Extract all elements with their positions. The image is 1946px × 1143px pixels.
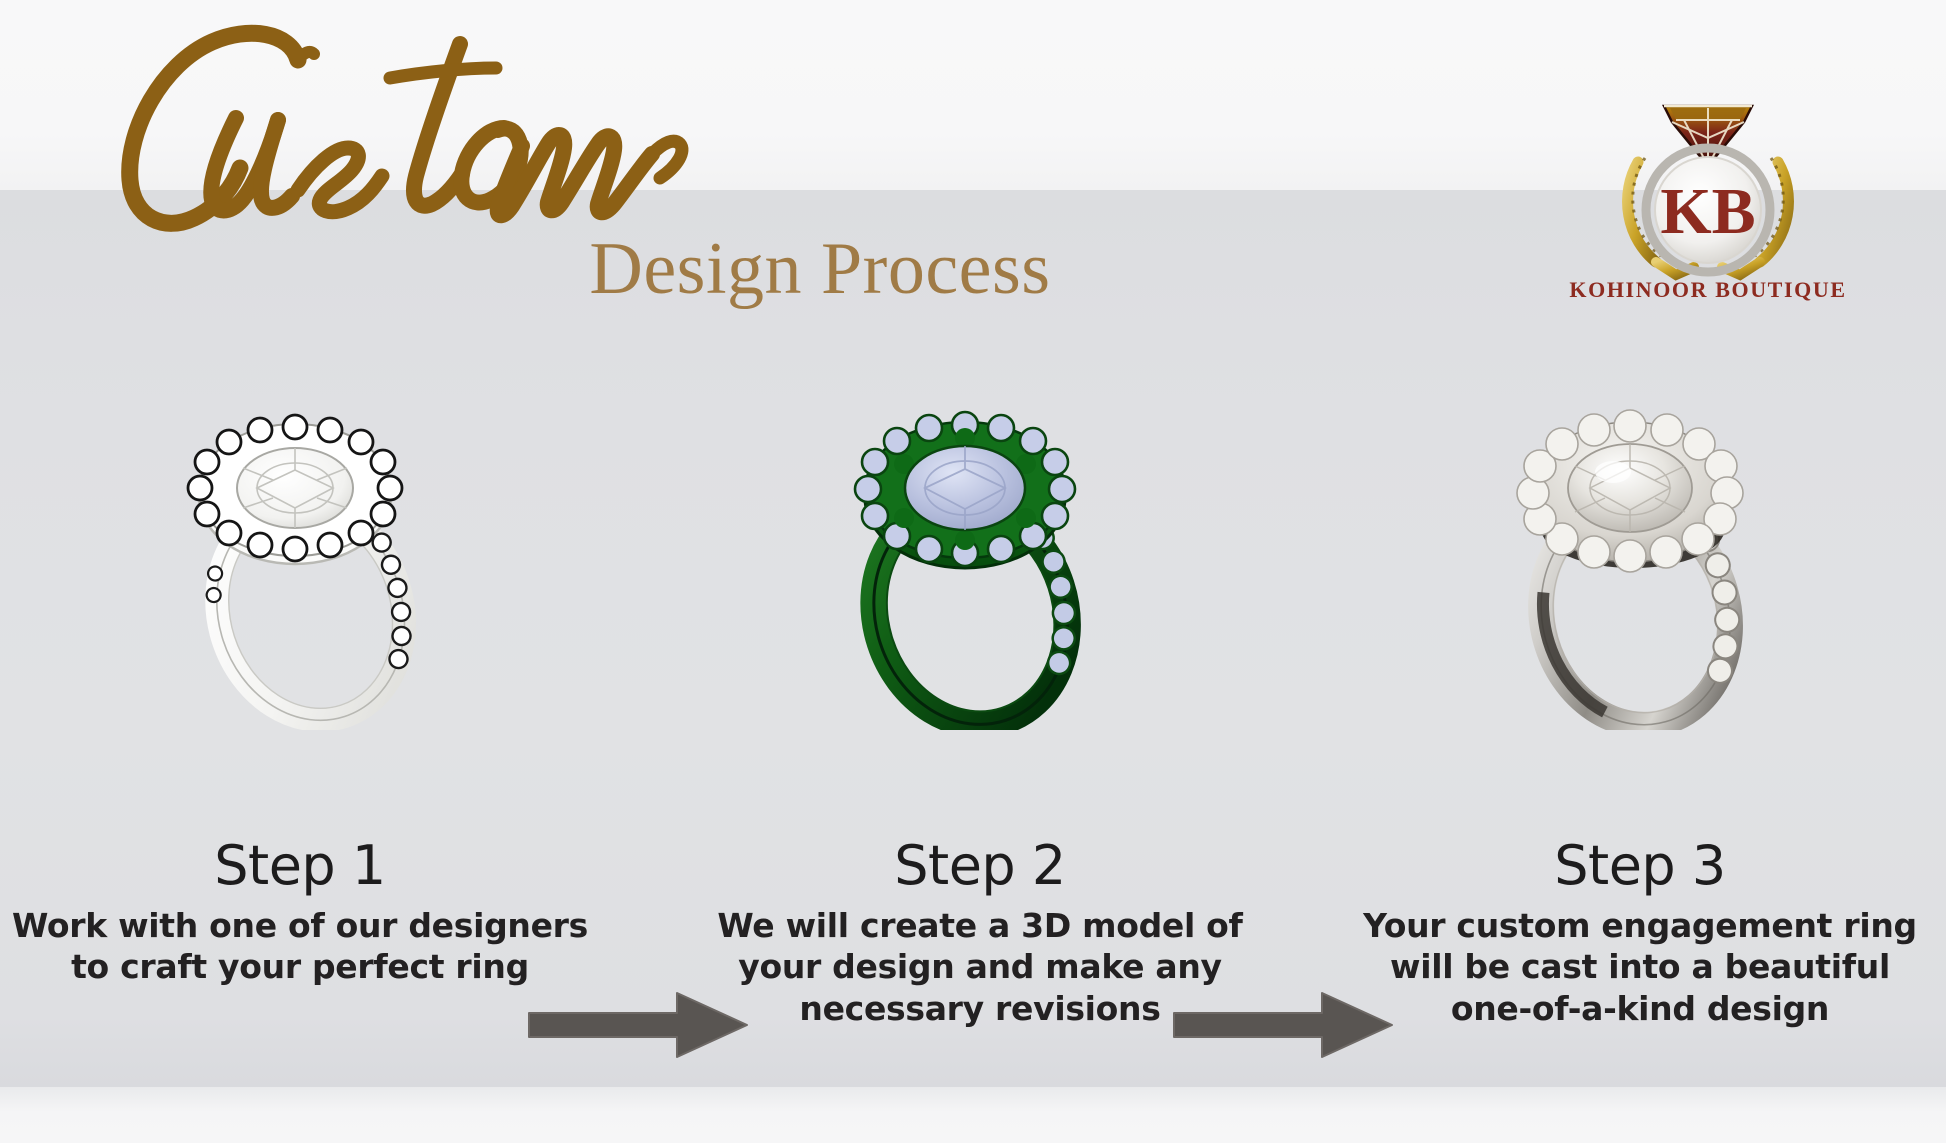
logo-monogram-text: KB [1660, 175, 1755, 248]
ring-illustration-step3-finished-ring [1475, 400, 1805, 730]
step-caption-3: Step 3 Your custom engagement ring will … [1320, 838, 1946, 1029]
background-band-bottom [0, 1087, 1946, 1143]
step-caption-2: Step 2 We will create a 3D model of your… [660, 838, 1300, 1029]
step-2-description: We will create a 3D model of your design… [660, 905, 1300, 1030]
step-1-description: Work with one of our designers to craft … [0, 905, 620, 988]
infographic-canvas: Design Process [0, 0, 1946, 1143]
process-illustrations [0, 400, 1946, 730]
step-3-desc-line-2: will be cast into a beautiful [1320, 946, 1946, 988]
step-2-title: Step 2 [660, 838, 1300, 895]
step-2-desc-line-2: your design and make any [660, 946, 1300, 988]
page-subtitle: Design Process [520, 232, 1120, 306]
custom-script-wordmark [52, 8, 772, 248]
ring-illustration-step1-cad-sketch [145, 400, 475, 730]
step-2-desc-line-3: necessary revisions [660, 988, 1300, 1030]
step-1-title: Step 1 [0, 838, 620, 895]
step-3-desc-line-1: Your custom engagement ring [1320, 905, 1946, 947]
ring-illustration-step2-3d-model [810, 400, 1140, 730]
brand-name-text: KOHINOOR BOUTIQUE [1546, 277, 1870, 303]
step-3-title: Step 3 [1320, 838, 1946, 895]
brand-logo[interactable]: KB KOHINOOR BOUTIQUE [1598, 70, 1818, 330]
step-3-description: Your custom engagement ring will be cast… [1320, 905, 1946, 1030]
step-2-desc-line-1: We will create a 3D model of [660, 905, 1300, 947]
step-3-desc-line-3: one-of-a-kind design [1320, 988, 1946, 1030]
step-1-desc-line-1: Work with one of our designers [0, 905, 620, 947]
step-1-desc-line-2: to craft your perfect ring [0, 946, 620, 988]
step-caption-1: Step 1 Work with one of our designers to… [0, 838, 620, 988]
kohinoor-ring-logo-icon: KB [1598, 70, 1818, 285]
